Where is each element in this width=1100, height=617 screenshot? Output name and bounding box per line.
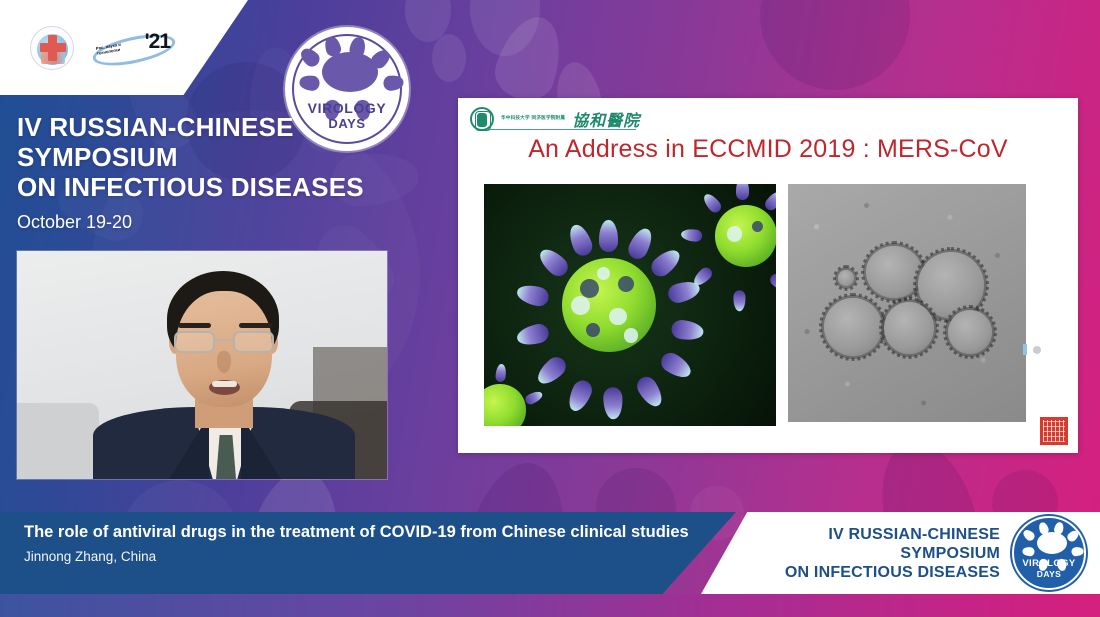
coronavirus-electron-micrograph-image bbox=[788, 184, 1026, 422]
event-brand-bar: IV RUSSIAN-CHINESE SYMPOSIUM ON INFECTIO… bbox=[680, 512, 1100, 594]
virology-days-badge-text: VIROLOGY DAYS bbox=[288, 100, 406, 131]
anniversary-logo-icon: Рос. наука и технологии '21 bbox=[92, 28, 176, 68]
talk-caption-bar: The role of antiviral drugs in the treat… bbox=[0, 512, 736, 594]
red-seal-stamp-icon bbox=[1040, 417, 1068, 445]
brand-line-1: IV RUSSIAN-CHINESE bbox=[785, 525, 1000, 544]
slide-cursor-mark bbox=[1023, 344, 1045, 355]
speaker-video-feed[interactable] bbox=[17, 251, 387, 479]
talk-title: The role of antiviral drugs in the treat… bbox=[24, 522, 692, 543]
headline-line-2: SYMPOSIUM bbox=[17, 142, 437, 172]
hospital-logo-underline bbox=[488, 129, 636, 130]
virology-days-badge: VIROLOGY DAYS bbox=[285, 27, 409, 151]
brand-line-2: SYMPOSIUM bbox=[785, 544, 1000, 563]
hospital-name-large: 協和醫院 bbox=[572, 107, 640, 131]
hospital-seal-icon bbox=[470, 107, 494, 131]
badge-line-1: VIROLOGY bbox=[288, 100, 406, 116]
slide-title: An Address in ECCMID 2019 : MERS-CoV bbox=[458, 135, 1078, 164]
badge-small-line-1: VIROLOGY bbox=[1014, 558, 1084, 569]
badge-line-2: DAYS bbox=[288, 116, 406, 131]
virology-days-badge-small-text: VIROLOGY DAYS bbox=[1014, 558, 1084, 579]
hospital-name-small: 华中科技大学 同济医学院附属 bbox=[501, 116, 565, 122]
brand-bar-text: IV RUSSIAN-CHINESE SYMPOSIUM ON INFECTIO… bbox=[785, 525, 1000, 582]
coronavirus-3d-render-image bbox=[484, 184, 776, 426]
anniversary-year-mark: '21 bbox=[145, 30, 170, 54]
speaker-name: Jinnong Zhang, China bbox=[24, 548, 736, 565]
hospital-logo: 华中科技大学 同济医学院附属 協和醫院 bbox=[470, 107, 640, 131]
virus-icon-small bbox=[1025, 525, 1077, 559]
bottom-gradient-strip bbox=[0, 594, 1100, 617]
brand-line-3: ON INFECTIOUS DISEASES bbox=[785, 563, 1000, 582]
rospotrebnadzor-logo-icon bbox=[30, 26, 74, 70]
presentation-slide[interactable]: 华中科技大学 同济医学院附属 協和醫院 An Address in ECCMID… bbox=[458, 98, 1078, 453]
broadcast-stage: Рос. наука и технологии '21 IV RUSSIAN-C… bbox=[0, 0, 1100, 617]
badge-small-line-2: DAYS bbox=[1014, 569, 1084, 579]
glasses-icon bbox=[174, 331, 274, 353]
virology-days-badge-small: VIROLOGY DAYS bbox=[1012, 516, 1086, 590]
headline-line-3: ON INFECTIOUS DISEASES bbox=[17, 172, 437, 202]
event-date: October 19-20 bbox=[17, 211, 437, 233]
virus-icon bbox=[302, 40, 398, 100]
